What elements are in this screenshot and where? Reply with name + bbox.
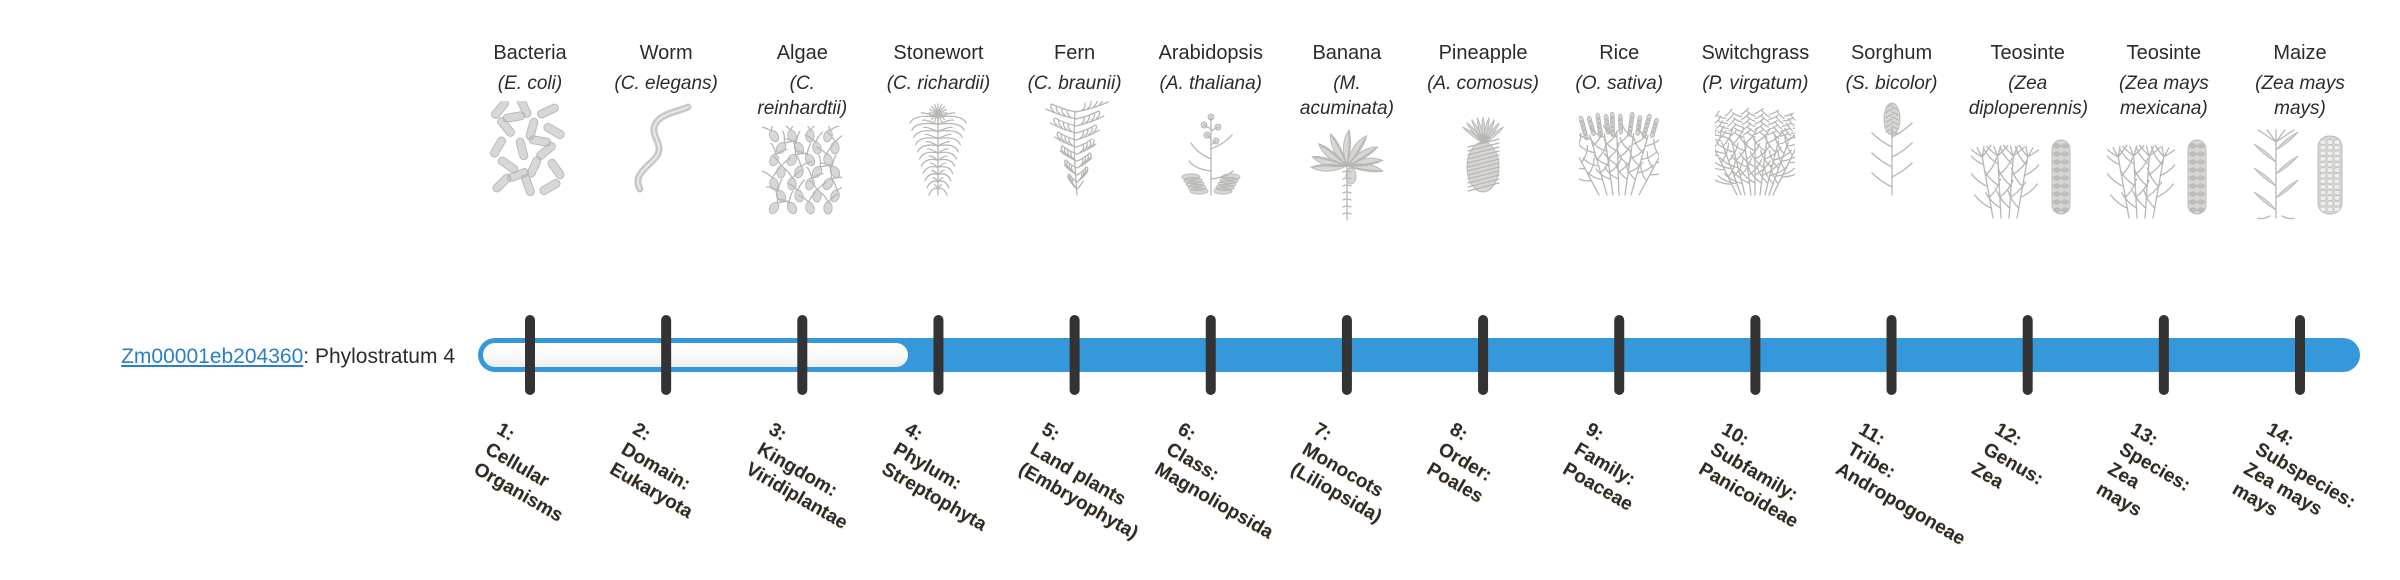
rank-label: 3:Kingdom:Viridiplantae <box>742 418 875 535</box>
phylostratum-figure: Zm00001eb204360: Phylostratum 4 Bacteria… <box>0 0 2400 580</box>
rank-label: 5:Land plants(Embryophyta) <box>1014 418 1165 545</box>
rank-label: 13:Species:Zeamays <box>2092 418 2206 537</box>
rank-label: 11:Tribe:Andropogoneae <box>1831 418 1992 551</box>
rank-label: 7:Monocots(Liliopsida) <box>1286 418 1408 528</box>
rank-labels: 1:CellularOrganisms2:Domain:Eukaryota3:K… <box>0 0 2400 580</box>
rank-label: 10:Subfamily:Panicoideae <box>1695 418 1826 533</box>
rank-label: 2:Domain:Eukaryota <box>606 418 720 524</box>
rank-label: 1:CellularOrganisms <box>470 418 590 527</box>
rank-label: 4:Phylum:Streptophyta <box>878 418 1014 536</box>
rank-label: 8:Order:Poales <box>1423 418 1511 508</box>
rank-label: 6:Class:Magnoliopsida <box>1150 418 1300 544</box>
rank-label: 9:Family:Poaceae <box>1559 418 1660 516</box>
rank-label: 14:Subspecies:Zea maysmays <box>2228 418 2371 554</box>
